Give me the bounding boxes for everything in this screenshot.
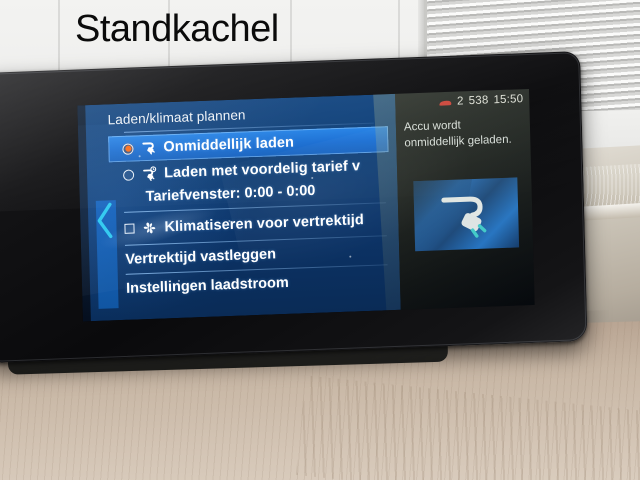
menu-item-label: Onmiddellijk laden: [163, 135, 294, 156]
checkbox-unchecked[interactable]: [124, 223, 134, 233]
page-title: Standkachel: [75, 8, 279, 51]
clock: 15:50: [493, 93, 523, 106]
charging-status-message: Accu wordt onmiddellijk geladen.: [404, 115, 525, 152]
menu-list: Laden/klimaat plannen: [99, 100, 404, 301]
range-value: 538: [469, 94, 489, 107]
car-icon: [438, 97, 452, 107]
charging-plug-icon: [140, 140, 156, 157]
charging-plug-graphic-panel: [413, 177, 519, 251]
display-bezel: 2 538 15:50 Accu wordt onmiddellijk gela…: [0, 51, 588, 363]
photo-scene: Standkachel 2 538 1: [0, 0, 640, 480]
infotainment-display: 2 538 15:50 Accu wordt onmiddellijk gela…: [0, 51, 588, 363]
screen-surface: 2 538 15:50 Accu wordt onmiddellijk gela…: [77, 89, 534, 322]
charging-plug-icon: [436, 188, 497, 242]
radio-button-selected[interactable]: [122, 143, 133, 154]
fan-icon: [141, 221, 157, 236]
menu-item-label: Klimatiseren voor vertrektijd: [164, 212, 364, 235]
seat-count: 2: [457, 95, 464, 107]
charging-plug-clock-icon: [141, 166, 157, 183]
radio-button-unselected[interactable]: [123, 169, 134, 180]
menu-item-label: Laden met voordelig tarief v: [164, 158, 360, 181]
